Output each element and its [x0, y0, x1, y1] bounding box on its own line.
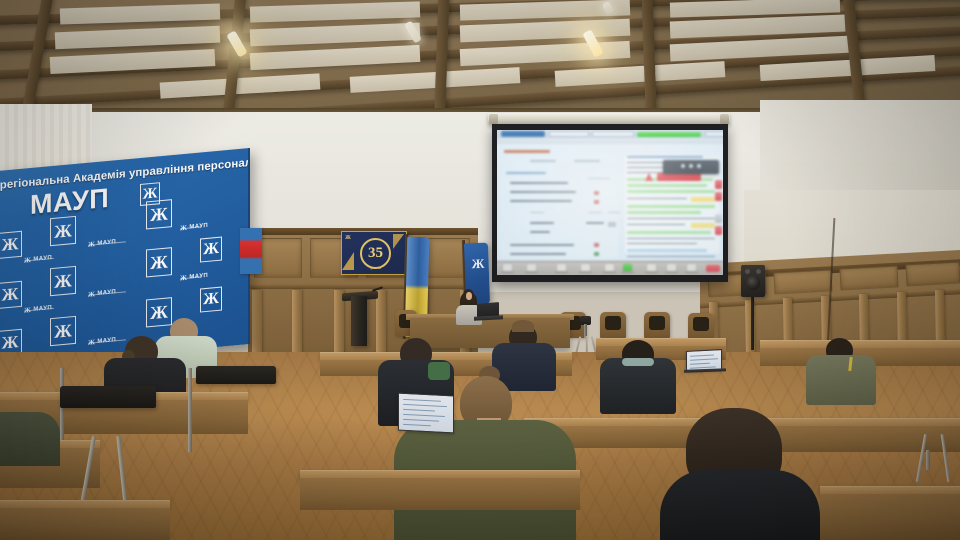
mute-button[interactable]	[503, 264, 512, 271]
side-action-button[interactable]	[715, 226, 722, 235]
banner-wordmark: ЖМАУП	[180, 222, 208, 233]
end-meeting-button[interactable]	[706, 265, 720, 272]
lecture-hall-photo: ...регіональна Академія управління персо…	[0, 0, 960, 540]
maup-step-and-repeat-banner: ...регіональна Академія управління персо…	[0, 148, 250, 367]
progress-highlight-bar	[637, 132, 701, 138]
chair	[196, 366, 276, 384]
laptop-audience-left	[398, 393, 454, 434]
maup-logo-icon: Ж	[50, 316, 76, 346]
maup-logo-icon: Ж	[0, 231, 22, 259]
projection-screen	[492, 124, 728, 282]
record-button[interactable]	[647, 264, 656, 271]
maup-logo-icon: Ж	[200, 287, 222, 313]
banner-wordmark: ЖМАУП	[24, 254, 52, 265]
maup-logo-icon: Ж	[345, 235, 351, 241]
pa-speaker	[741, 265, 765, 297]
security-button[interactable]	[557, 264, 566, 271]
form-column	[500, 146, 618, 259]
maup-logo-icon: Ж	[146, 199, 172, 229]
page-body	[497, 144, 723, 261]
maup-logo-icon: Ж	[50, 266, 76, 296]
maup-logo-icon: Ж	[146, 297, 172, 327]
attendee-hair	[512, 320, 534, 332]
banner-wordmark: ЖМАУП	[24, 304, 52, 315]
wood-chair	[600, 312, 626, 338]
side-action-button[interactable]	[715, 214, 722, 223]
video-button[interactable]	[527, 264, 536, 271]
meeting-toolbar	[497, 261, 723, 275]
banner-wordmark: ЖМАУП	[88, 336, 116, 347]
wall-sign	[240, 228, 262, 274]
side-action-button[interactable]	[715, 192, 722, 201]
attendee-scarf	[428, 362, 450, 380]
browser-tab[interactable]	[705, 131, 723, 137]
maup-logo-icon: Ж	[50, 216, 76, 246]
banner-wordmark: ЖМАУП	[180, 272, 208, 283]
browser-tab[interactable]	[501, 131, 545, 137]
attendee-torso	[0, 412, 60, 466]
maup-logo-icon: Ж	[470, 255, 487, 274]
reactions-button[interactable]	[667, 264, 676, 271]
maup-logo-icon: Ж	[200, 237, 222, 263]
attendee-torso	[600, 358, 676, 414]
lectern	[351, 296, 367, 346]
anniversary-poster: Ж 35 років	[341, 231, 407, 275]
desk	[300, 470, 580, 510]
anniversary-subtitle: років	[362, 265, 390, 270]
wood-chair	[688, 313, 714, 339]
attendee-torso	[660, 470, 820, 540]
maup-logo-icon: Ж	[0, 281, 22, 309]
browser-tab[interactable]	[549, 131, 589, 137]
alert-badge	[657, 173, 701, 181]
browser-tab[interactable]	[592, 131, 634, 137]
presenter-face	[466, 292, 472, 300]
attendee-torso	[806, 355, 876, 405]
chair	[60, 386, 156, 408]
chat-button[interactable]	[605, 264, 614, 271]
meeting-video-panel[interactable]	[663, 160, 719, 174]
apps-button[interactable]	[687, 264, 696, 271]
attendee-collar	[622, 358, 654, 366]
desk	[820, 486, 960, 540]
projected-desktop	[497, 130, 723, 275]
share-screen-button[interactable]	[623, 264, 632, 271]
participants-button[interactable]	[581, 264, 590, 271]
speaker-stand	[751, 296, 754, 350]
maup-logo-icon: Ж	[146, 247, 172, 277]
desk	[0, 500, 170, 540]
banner-wordmark: ЖМАУП	[88, 288, 116, 299]
warning-triangle-icon	[645, 173, 653, 181]
wood-chair	[644, 312, 670, 338]
side-action-button[interactable]	[715, 180, 722, 189]
banner-acronym: МАУП	[30, 183, 109, 221]
banner-wordmark: ЖМАУП	[88, 238, 116, 249]
